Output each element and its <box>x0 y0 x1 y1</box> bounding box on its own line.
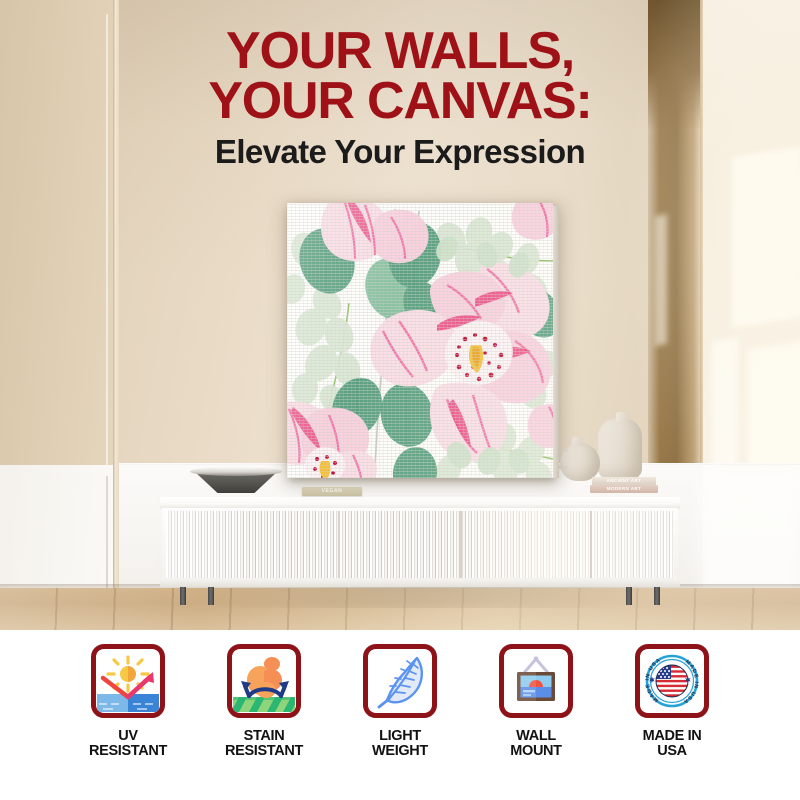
headline-line-1: YOUR WALLS, <box>0 26 800 76</box>
room-photo: ANCIENT ART MODERN ART VEGAN <box>0 0 800 630</box>
decorative-bowl <box>190 467 282 493</box>
feature-stain-resistant-label: STAIN RESISTANT <box>225 729 303 758</box>
feature-uv-resistant[interactable]: UV RESISTANT <box>72 644 184 758</box>
sideboard-door-seam <box>460 511 462 578</box>
book-vegan-title: VEGAN <box>302 487 362 496</box>
decorative-bowl-rim <box>190 467 282 476</box>
feature-light-weight-label: LIGHT WEIGHT <box>372 729 428 758</box>
framed-picture-hanging-icon <box>505 650 567 712</box>
feature-stain-resistant[interactable]: STAIN RESISTANT <box>208 644 320 758</box>
feature-wall-mount[interactable]: WALL MOUNT <box>480 644 592 758</box>
feature-light-weight[interactable]: LIGHT WEIGHT <box>344 644 456 758</box>
feature-wall-mount-icon-box <box>499 644 573 718</box>
feature-badge-strip: UV RESISTANT <box>0 636 800 800</box>
feature-made-in-usa-label: MADE IN USA <box>643 729 702 758</box>
stain-droplet-repel-icon <box>233 650 295 712</box>
poster-root: ANCIENT ART MODERN ART VEGAN <box>0 0 800 800</box>
feature-light-weight-icon-box <box>363 644 437 718</box>
feather-icon <box>369 650 431 712</box>
sideboard-door-seam <box>338 511 340 578</box>
feature-uv-resistant-icon-box <box>91 644 165 718</box>
headline-block: YOUR WALLS, YOUR CANVAS: Elevate Your Ex… <box>0 26 800 178</box>
feature-made-in-usa-icon-box: MADE IN USA MADE IN USA <box>635 644 709 718</box>
headline-line-2: YOUR CANVAS: <box>0 76 800 126</box>
floral-pattern-artwork <box>287 203 553 478</box>
headline-subline: Elevate Your Expression <box>0 126 800 178</box>
small-ceramic-vase-neck <box>572 437 583 446</box>
canvas-printed-face <box>287 203 553 478</box>
feature-stain-resistant-icon-box <box>227 644 301 718</box>
sideboard-door-seam <box>590 511 592 578</box>
feature-wall-mount-label: WALL MOUNT <box>510 729 561 758</box>
canvas-side-edge <box>553 206 559 478</box>
book-vegan: VEGAN <box>302 487 362 496</box>
sideboard-leg <box>208 587 214 605</box>
sideboard-leg <box>180 587 186 605</box>
feature-made-in-usa[interactable]: MADE IN USA MADE IN USA MADE IN USA <box>616 644 728 758</box>
uv-sun-reflect-icon <box>97 650 159 712</box>
sideboard-highlight <box>166 511 674 578</box>
made-in-usa-badge-icon: MADE IN USA MADE IN USA <box>641 650 703 712</box>
feature-uv-resistant-label: UV RESISTANT <box>89 729 167 758</box>
canvas-artwork <box>287 203 553 478</box>
